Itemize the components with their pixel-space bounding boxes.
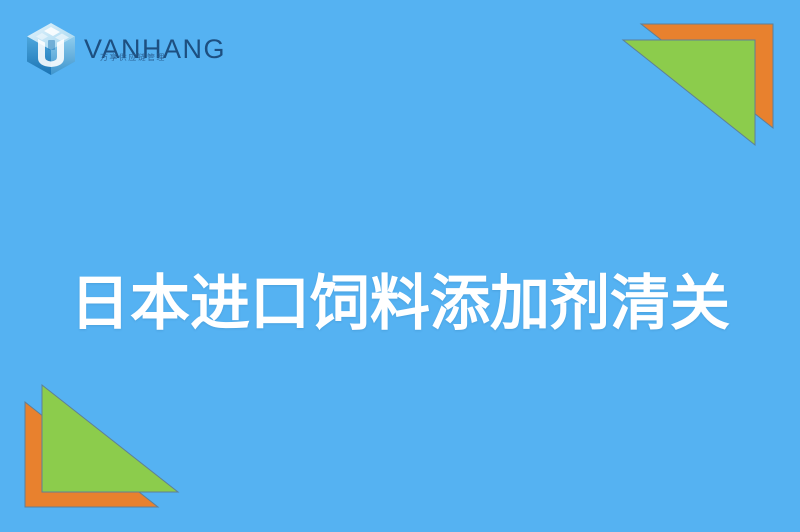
green-triangle bbox=[42, 385, 178, 492]
logo-text-block: VANHANG 万享供应链管理 bbox=[84, 20, 226, 78]
page-title: 日本进口饲料添加剂清关 bbox=[0, 268, 800, 340]
orange-triangle bbox=[25, 402, 158, 507]
top-right-triangles bbox=[600, 0, 800, 160]
brand-logo[interactable]: VANHANG 万享供应链管理 bbox=[22, 18, 226, 80]
logo-subtitle: 万享供应链管理 bbox=[100, 54, 166, 62]
green-triangle bbox=[623, 40, 755, 145]
banner-canvas: VANHANG 万享供应链管理 日本进口饲料添加剂清关 bbox=[0, 0, 800, 532]
bottom-left-triangles bbox=[0, 372, 210, 532]
orange-triangle bbox=[641, 24, 773, 128]
vanhang-cube-logo-icon bbox=[22, 20, 80, 78]
